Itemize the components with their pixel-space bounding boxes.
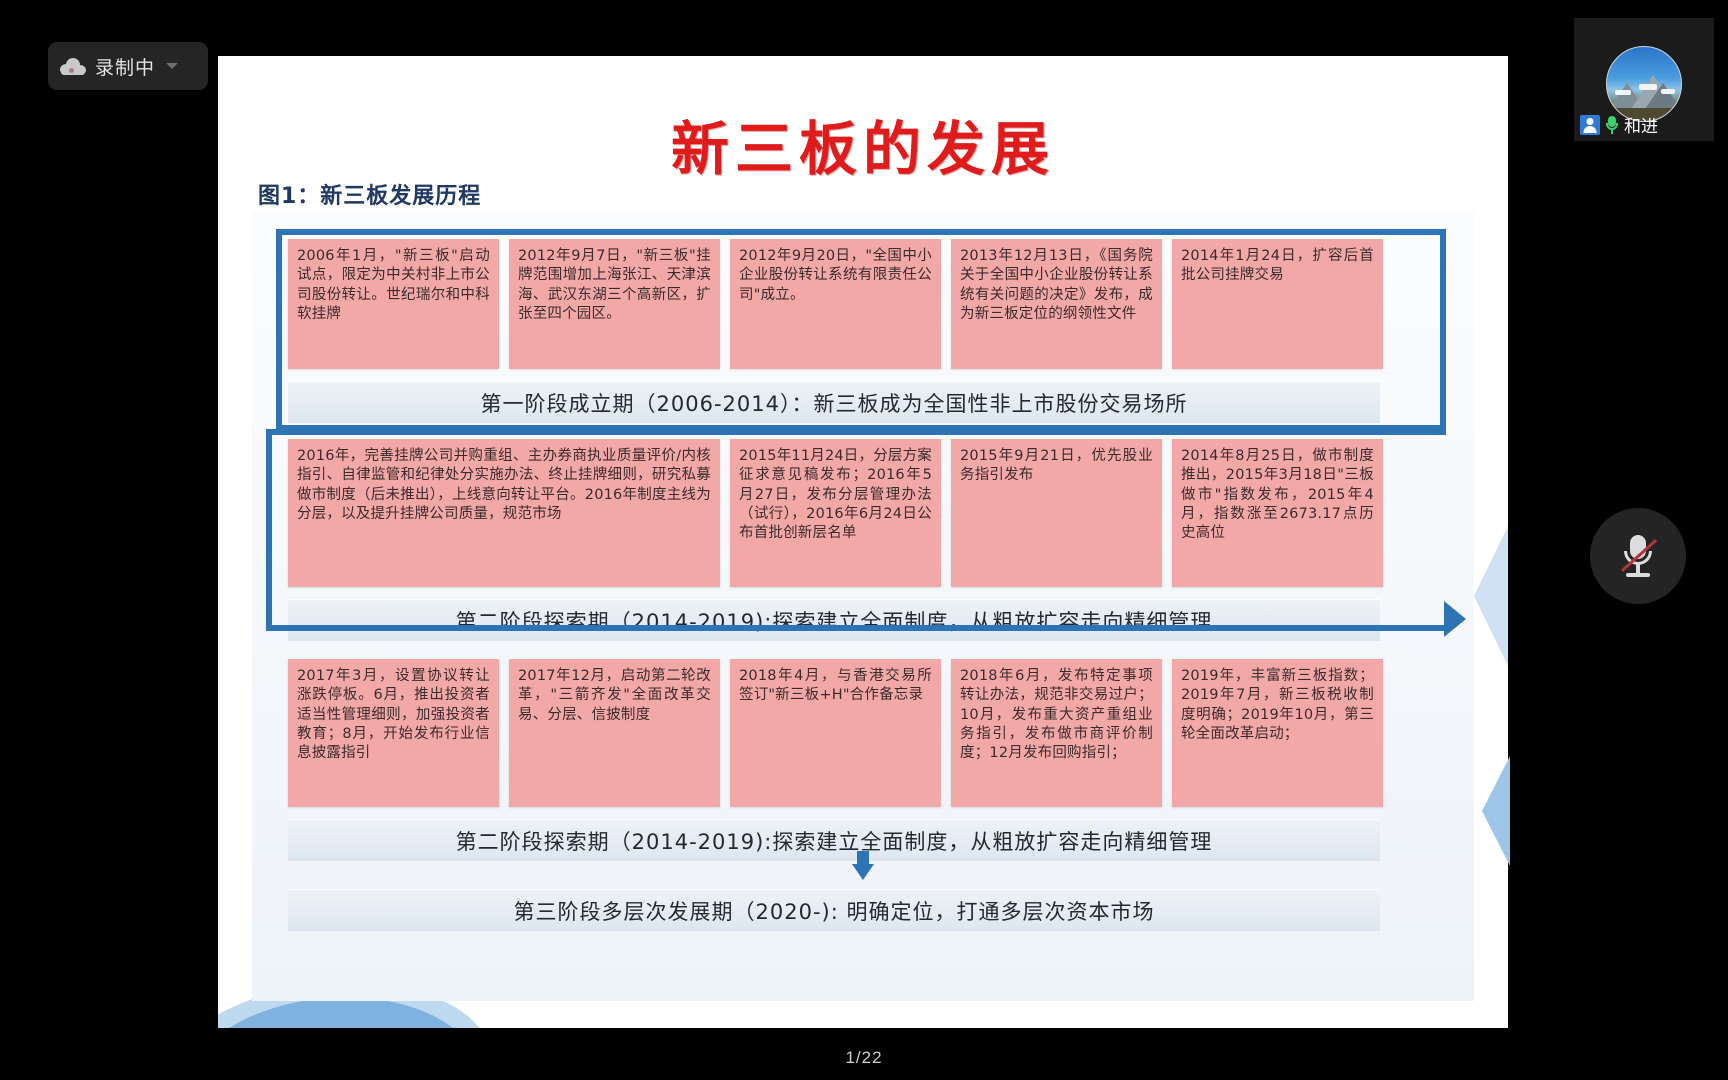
participant-footer: 和进 xyxy=(1574,112,1714,137)
timeline-card: 2017年12月，启动第二轮改革，"三箭齐发"全面改革交易、分层、信披制度 xyxy=(509,659,720,807)
timeline-row-3: 2017年3月，设置协议转让涨跌停板。6月，推出投资者适当性管理细则，加强投资者… xyxy=(288,659,1436,807)
microphone-icon xyxy=(1604,115,1620,135)
timeline-card: 2018年6月，发布特定事项转让办法，规范非交易过户；10月，发布重大资产重组业… xyxy=(951,659,1162,807)
mute-button[interactable] xyxy=(1590,508,1686,604)
timeline-card: 2018年4月，与香港交易所签订"新三板+H"合作备忘录 xyxy=(730,659,941,807)
timeline-row-1: 2006年1月，"新三板"启动试点，限定为中关村非上市公司股份转让。世纪瑞尔和中… xyxy=(288,239,1436,369)
slide-decoration-right xyxy=(1474,526,1508,666)
timeline-card: 2012年9月20日，"全国中小企业股份转让系统有限责任公司"成立。 xyxy=(730,239,941,369)
timeline-card: 2017年3月，设置协议转让涨跌停板。6月，推出投资者适当性管理细则，加强投资者… xyxy=(288,659,499,807)
timeline-card: 2013年12月13日，《国务院关于全国中小企业股份转让系统有关问题的决定》发布… xyxy=(951,239,1162,369)
cloud-icon xyxy=(60,58,86,75)
participant-name: 和进 xyxy=(1624,112,1658,137)
presentation-slide[interactable]: 新三板的发展 图1：新三板发展历程 2006年1月，"新三板"启动试点，限定为中… xyxy=(218,56,1508,1028)
phase-summary-bar: 第二阶段探索期（2014-2019):探索建立全面制度，从粗放扩容走向精细管理 xyxy=(288,599,1380,641)
participant-tile[interactable]: 和进 xyxy=(1574,18,1714,141)
avatar xyxy=(1606,46,1682,122)
timeline-card: 2006年1月，"新三板"启动试点，限定为中关村非上市公司股份转让。世纪瑞尔和中… xyxy=(288,239,499,369)
figure-caption: 图1：新三板发展历程 xyxy=(258,178,481,214)
phase-summary-bar: 第二阶段探索期（2014-2019):探索建立全面制度，从粗放扩容走向精细管理 xyxy=(288,819,1380,861)
page-indicator: 1/22 xyxy=(0,1048,1728,1068)
recording-indicator[interactable]: 录制中 xyxy=(48,42,208,90)
timeline-card: 2015年9月21日，优先股业务指引发布 xyxy=(951,439,1162,587)
timeline-card: 2012年9月7日，"新三板"挂牌范围增加上海张江、天津滨海、武汉东湖三个高新区… xyxy=(509,239,720,369)
slide-decoration-right-2 xyxy=(1482,756,1510,866)
microphone-muted-icon xyxy=(1618,533,1658,579)
recording-label: 录制中 xyxy=(95,53,155,80)
timeline-card: 2014年8月25日，做市制度推出，2015年3月18日"三板做市"指数发布，2… xyxy=(1172,439,1383,587)
timeline-card: 2014年1月24日，扩容后首批公司挂牌交易 xyxy=(1172,239,1383,369)
phase-summary-bar: 第一阶段成立期（2006-2014）：新三板成为全国性非上市股份交易场所 xyxy=(288,381,1380,423)
timeline-row-2: 2016年，完善挂牌公司并购重组、主办券商执业质量评价/内核指引、自律监管和纪律… xyxy=(288,439,1436,587)
timeline-card: 2019年，丰富新三板指数；2019年7月，新三板税收制度明确；2019年10月… xyxy=(1172,659,1383,807)
timeline-card: 2015年11月24日，分层方案征求意见稿发布；2016年5月27日，发布分层管… xyxy=(730,439,941,587)
figure-area: 2006年1月，"新三板"启动试点，限定为中关村非上市公司股份转让。世纪瑞尔和中… xyxy=(252,211,1474,1001)
screen-share-window: 录制中 和进 1/22 xyxy=(0,0,1728,1080)
chevron-down-icon[interactable] xyxy=(166,63,178,69)
page-title: 新三板的发展 xyxy=(218,102,1508,186)
timeline-arrow-head-icon xyxy=(1444,601,1466,637)
timeline-card: 2016年，完善挂牌公司并购重组、主办券商执业质量评价/内核指引、自律监管和纪律… xyxy=(288,439,720,587)
phase-summary-bar: 第三阶段多层次发展期（2020-): 明确定位，打通多层次资本市场 xyxy=(288,889,1380,931)
down-arrow-icon xyxy=(852,851,874,881)
person-badge-icon xyxy=(1580,115,1600,135)
